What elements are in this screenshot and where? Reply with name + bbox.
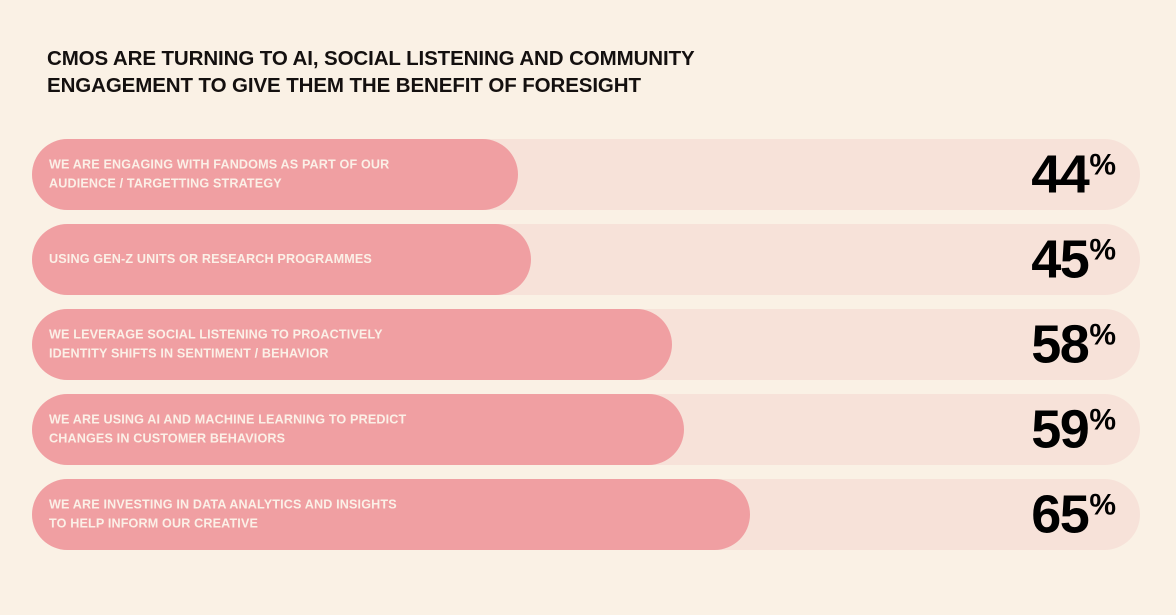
percent-symbol: % xyxy=(1089,152,1115,177)
infographic-canvas: CMOS ARE TURNING TO AI, SOCIAL LISTENING… xyxy=(0,0,1176,615)
bar-label: WE ARE USING AI AND MACHINE LEARNING TO … xyxy=(49,410,589,449)
percent-symbol: % xyxy=(1089,492,1115,517)
bar-row: WE ARE USING AI AND MACHINE LEARNING TO … xyxy=(32,394,1140,465)
bar-label: WE ARE INVESTING IN DATA ANALYTICS AND I… xyxy=(49,495,589,534)
bar-value: 65 % xyxy=(1031,492,1115,537)
bar-label: WE ARE ENGAGING WITH FANDOMS AS PART OF … xyxy=(49,155,589,194)
percent-symbol: % xyxy=(1089,237,1115,262)
percent-symbol: % xyxy=(1089,407,1115,432)
page-title: CMOS ARE TURNING TO AI, SOCIAL LISTENING… xyxy=(47,45,747,100)
bar-row: WE LEVERAGE SOCIAL LISTENING TO PROACTIV… xyxy=(32,309,1140,380)
percent-symbol: % xyxy=(1089,322,1115,347)
bar-value: 58 % xyxy=(1031,322,1115,367)
bar-row: WE ARE ENGAGING WITH FANDOMS AS PART OF … xyxy=(32,139,1140,210)
bar-label: USING GEN-Z UNITS OR RESEARCH PROGRAMMES xyxy=(49,250,589,270)
bar-row: USING GEN-Z UNITS OR RESEARCH PROGRAMMES… xyxy=(32,224,1140,295)
page-title-line-2: ENGAGEMENT TO GIVE THEM THE BENEFIT OF F… xyxy=(47,72,747,99)
page-title-line-1: CMOS ARE TURNING TO AI, SOCIAL LISTENING… xyxy=(47,45,747,72)
bar-value-number: 59 xyxy=(1031,407,1088,452)
bar-row: WE ARE INVESTING IN DATA ANALYTICS AND I… xyxy=(32,479,1140,550)
bar-chart: WE ARE ENGAGING WITH FANDOMS AS PART OF … xyxy=(32,139,1140,550)
bar-value-number: 65 xyxy=(1031,492,1088,537)
bar-value: 44 % xyxy=(1031,152,1115,197)
bar-label: WE LEVERAGE SOCIAL LISTENING TO PROACTIV… xyxy=(49,325,589,364)
bar-value: 59 % xyxy=(1031,407,1115,452)
bar-value-number: 45 xyxy=(1031,237,1088,282)
bar-value: 45 % xyxy=(1031,237,1115,282)
bar-value-number: 58 xyxy=(1031,322,1088,367)
bar-value-number: 44 xyxy=(1031,152,1088,197)
